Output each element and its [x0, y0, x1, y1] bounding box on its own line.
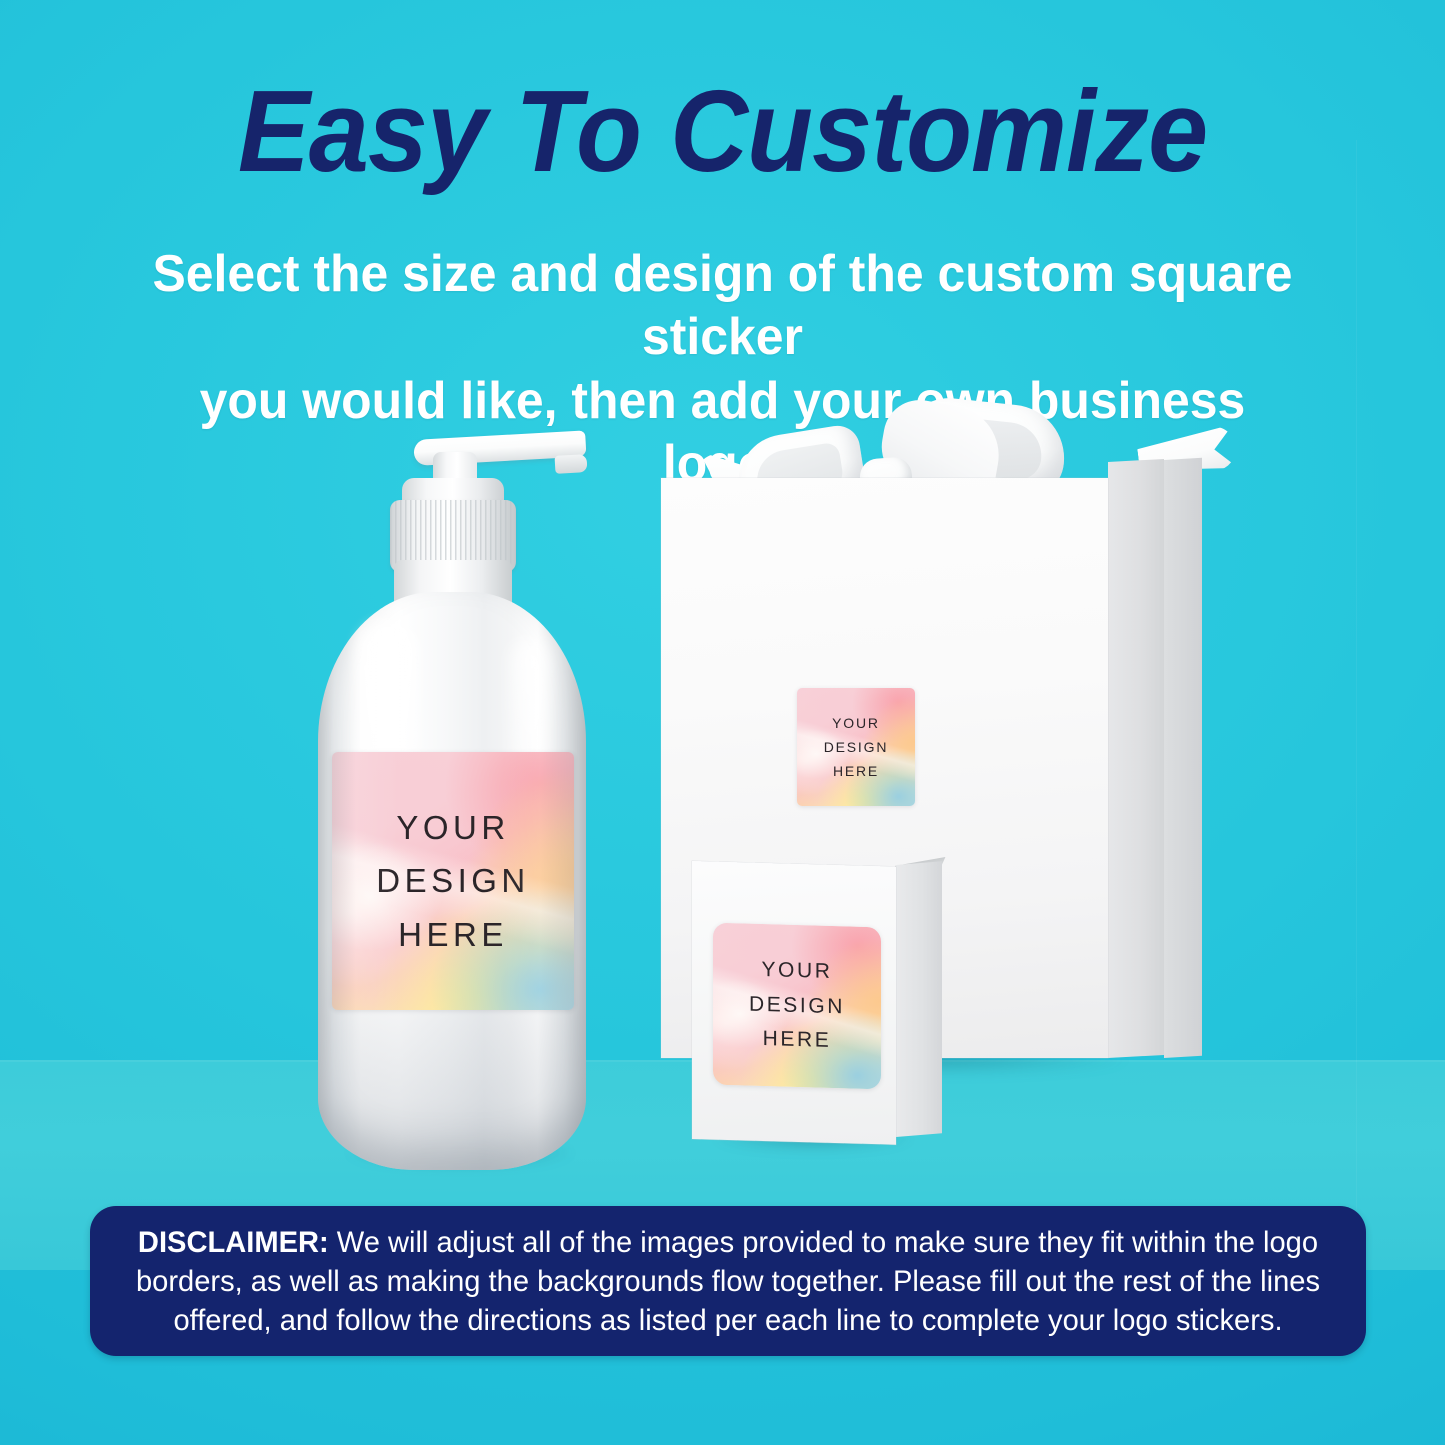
small-box-sticker-text: YOUR DESIGN HERE — [713, 923, 881, 1090]
gift-box-sticker: YOUR DESIGN HERE — [797, 688, 915, 806]
bottle-label-text: YOUR DESIGN HERE — [332, 752, 574, 1010]
small-box-side-panel — [896, 861, 942, 1137]
gift-sticker-line-1: YOUR — [832, 711, 880, 735]
disclaimer-banner: DISCLAIMER: We will adjust all of the im… — [90, 1206, 1366, 1356]
small-box-sticker: YOUR DESIGN HERE — [713, 923, 881, 1090]
disclaimer-text: DISCLAIMER: We will adjust all of the im… — [109, 1223, 1347, 1340]
bottle-label-line-2: DESIGN — [376, 854, 530, 907]
bottle-label-line-3: HERE — [398, 908, 508, 961]
pump-nozzle-tip — [555, 454, 588, 474]
gift-box-back-panel — [1164, 458, 1202, 1058]
page-subtitle: Select the size and design of the custom… — [135, 243, 1311, 497]
promo-graphic: Easy To Customize Select the size and de… — [0, 0, 1445, 1445]
small-box-sticker-line-3: HERE — [763, 1022, 832, 1059]
page-title: Easy To Customize — [51, 72, 1395, 190]
small-box-sticker-line-2: DESIGN — [749, 987, 845, 1025]
backdrop-seam-line — [1356, 140, 1357, 1210]
gift-sticker-line-3: HERE — [833, 759, 879, 783]
subtitle-line-1: Select the size and design of the custom… — [135, 243, 1311, 370]
gift-sticker-line-2: DESIGN — [824, 735, 888, 759]
disclaimer-label: DISCLAIMER: — [138, 1226, 329, 1259]
bottle-label-sticker: YOUR DESIGN HERE — [332, 752, 574, 1010]
gift-box-side-panel — [1108, 459, 1164, 1058]
gift-sticker-text: YOUR DESIGN HERE — [797, 688, 915, 806]
bottle-label-line-1: YOUR — [396, 801, 509, 854]
small-box-sticker-line-1: YOUR — [761, 953, 832, 990]
